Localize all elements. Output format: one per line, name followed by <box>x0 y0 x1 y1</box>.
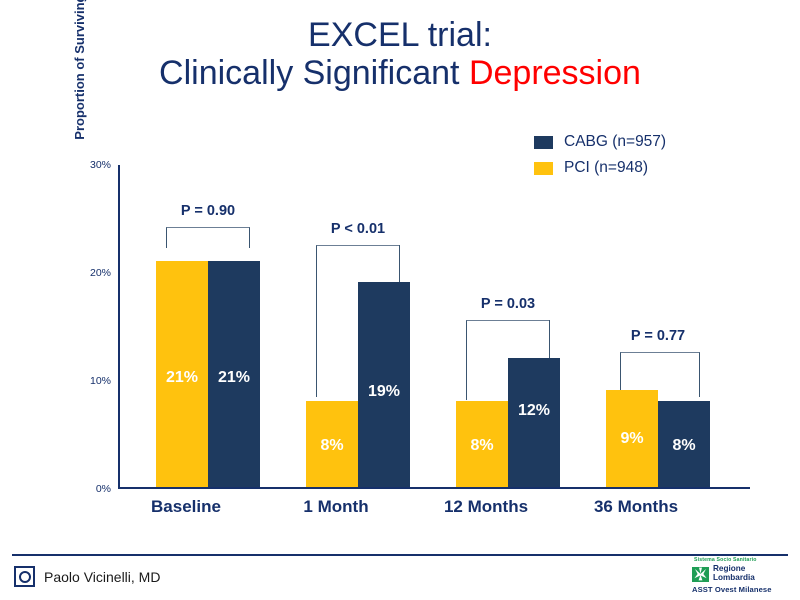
title-line-2-prefix: Clinically Significant <box>159 54 469 92</box>
x-category-baseline: Baseline <box>106 497 266 517</box>
author-name: Paolo Vicinelli, MD <box>44 569 160 585</box>
y-tick-10: 10% <box>90 375 111 387</box>
page-title: EXCEL trial: Clinically Significant Depr… <box>0 16 800 92</box>
bar-cabg-baseline[interactable]: 21% <box>208 261 260 488</box>
lombardia-rose-icon <box>692 567 709 582</box>
bar-cabg-1-month[interactable]: 19% <box>358 282 410 487</box>
bar-value-cabg-12-months: 12% <box>508 402 560 420</box>
legend-item-cabg[interactable]: CABG (n=957) <box>534 130 764 154</box>
footer-divider <box>12 554 788 556</box>
legend-swatch-cabg <box>534 136 553 149</box>
bar-value-pci-12-months: 8% <box>456 437 508 455</box>
bar-value-pci-baseline: 21% <box>156 369 208 387</box>
bar-value-cabg-36-months: 8% <box>658 437 710 455</box>
bar-pci-36-months[interactable]: 9% <box>606 390 658 487</box>
bars-baseline: 21% 21% <box>156 163 260 487</box>
bars-12-months: 8% 12% <box>456 163 560 487</box>
bar-value-pci-36-months: 9% <box>606 430 658 448</box>
bar-value-pci-1-month: 8% <box>306 437 358 455</box>
org-logo-main: Regione Lombardia <box>692 565 792 583</box>
bars-36-months: 9% 8% <box>606 163 710 487</box>
legend-label-cabg: CABG (n=957) <box>564 133 666 151</box>
org-logo-subtitle: ASST Ovest Milanese <box>692 585 792 594</box>
y-axis-title: Proportion of Surviving Patients <box>72 0 87 190</box>
y-axis-line <box>118 165 120 489</box>
org-logo-name-line2: Lombardia <box>713 573 755 582</box>
org-logo-name-line1: Regione <box>713 564 745 573</box>
bar-cabg-12-months[interactable]: 12% <box>508 358 560 488</box>
slide-canvas: EXCEL trial: Clinically Significant Depr… <box>0 0 800 600</box>
title-line-2-accent: Depression <box>469 54 641 92</box>
bar-pci-1-month[interactable]: 8% <box>306 401 358 487</box>
y-tick-30: 30% <box>90 159 111 171</box>
bar-pci-12-months[interactable]: 8% <box>456 401 508 487</box>
bar-cabg-36-months[interactable]: 8% <box>658 401 710 487</box>
footer-author: Paolo Vicinelli, MD <box>14 566 160 587</box>
title-line-2: Clinically Significant Depression <box>0 54 800 92</box>
org-logo-name: Regione Lombardia <box>713 565 755 583</box>
title-line-1: EXCEL trial: <box>0 16 800 54</box>
bar-value-cabg-baseline: 21% <box>208 369 260 387</box>
bar-value-cabg-1-month: 19% <box>358 383 410 401</box>
y-tick-0: 0% <box>96 483 111 495</box>
x-category-36-months: 36 Months <box>556 497 716 517</box>
author-logo-icon <box>14 566 35 587</box>
x-category-12-months: 12 Months <box>406 497 566 517</box>
org-logo-tagline: Sistema Socio Sanitario <box>692 558 792 563</box>
x-axis-line <box>118 487 750 489</box>
plot-area: 30% 20% 10% 0% P = 0.90 21% 21% P < 0.01 <box>118 165 750 489</box>
bar-pci-baseline[interactable]: 21% <box>156 261 208 488</box>
org-logo: Sistema Socio Sanitario Regione Lombardi… <box>692 558 792 596</box>
y-tick-20: 20% <box>90 267 111 279</box>
bars-1-month: 8% 19% <box>306 163 410 487</box>
x-category-1-month: 1 Month <box>256 497 416 517</box>
